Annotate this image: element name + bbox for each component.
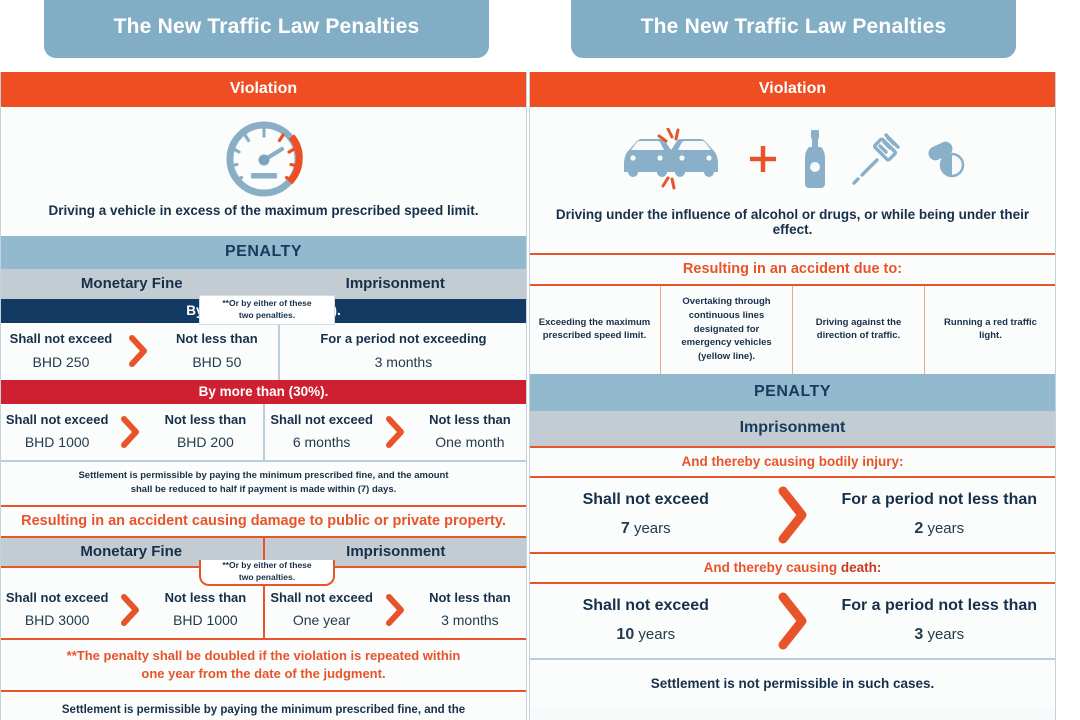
list-item: Running a red traffic light. xyxy=(924,286,1056,374)
chevron-right-icon xyxy=(763,478,823,552)
value-unit: years xyxy=(638,626,675,643)
cell-accident-fine-max: Shall not exceed BHD 3000 xyxy=(0,582,114,639)
left-title-wrap: The New Traffic Law Penalties xyxy=(0,0,527,72)
list-item: Overtaking through continuous lines desi… xyxy=(660,286,792,374)
cell-prison-max-over30: Shall not exceed 6 months xyxy=(265,404,379,461)
cell-death-max: Shall not exceed 10 years xyxy=(529,584,763,658)
double-penalty-note: **The penalty shall be doubled if the vi… xyxy=(0,638,527,692)
cell-death-min: For a period not less than 3 years xyxy=(823,584,1057,658)
value-unit: years xyxy=(927,626,964,643)
table-row: Shall not exceed BHD 1000 Not less than … xyxy=(0,404,527,461)
right-violation-header: Violation xyxy=(529,72,1056,107)
value-unit: years xyxy=(927,520,964,537)
cell-injury-min: For a period not less than 2 years xyxy=(823,478,1057,552)
chevron-right-icon xyxy=(114,582,148,639)
right-penalty-subhead: Imprisonment xyxy=(529,411,1056,446)
accident-banner-right: Resulting in an accident due to: xyxy=(529,253,1056,286)
value-number: 7 xyxy=(621,520,630,537)
left-violation-caption: Driving a vehicle in excess of the maxim… xyxy=(0,199,527,226)
table-row: Shall not exceed 10 years For a period n… xyxy=(529,584,1056,658)
list-item: Driving against the direction of traffic… xyxy=(792,286,924,374)
table-row: Shall not exceed 7 years For a period no… xyxy=(529,478,1056,552)
car-crash-icon xyxy=(618,128,724,195)
syringe-icon xyxy=(850,132,904,191)
right-page-title: The New Traffic Law Penalties xyxy=(641,5,947,39)
list-item: Exceeding the maximum prescribed speed l… xyxy=(529,286,660,374)
chevron-right-icon xyxy=(122,323,156,380)
settlement-note-1: Settlement is permissible by paying the … xyxy=(0,462,527,505)
right-violation-body: Driving under the influence of alcohol o… xyxy=(529,107,1056,253)
left-penalty-header: PENALTY xyxy=(0,236,527,269)
plus-icon xyxy=(746,142,780,181)
right-icon-row xyxy=(529,125,1056,197)
accident-reasons-list: Exceeding the maximum prescribed speed l… xyxy=(529,286,1056,374)
cell-prison-30: For a period not exceeding 3 months xyxy=(280,323,527,380)
cell-accident-prison-min: Not less than 3 months xyxy=(413,582,527,639)
left-icon-row xyxy=(0,121,527,199)
chevron-right-icon xyxy=(763,584,823,658)
speedometer-icon xyxy=(221,119,307,202)
cell-fine-min-30: Not less than BHD 50 xyxy=(156,323,278,380)
right-footer-note: Settlement is not permissible in such ca… xyxy=(529,660,1056,708)
accident-banner-left: Resulting in an accident causing damage … xyxy=(0,505,527,538)
accident-column-monetary-fine: Monetary Fine xyxy=(4,543,259,561)
right-violation-caption: Driving under the influence of alcohol o… xyxy=(529,197,1056,245)
or-either-penalties-note-1: **Or by either of these two penalties. xyxy=(199,295,335,325)
infographic-root: The New Traffic Law Penalties Violation xyxy=(0,0,1080,720)
cell-fine-max-over30: Shall not exceed BHD 1000 xyxy=(0,404,114,461)
left-violation-header: Violation xyxy=(0,72,527,107)
value-number: 10 xyxy=(616,626,634,643)
pills-icon xyxy=(926,138,968,185)
chevron-right-icon xyxy=(379,404,413,461)
chevron-right-icon xyxy=(114,404,148,461)
right-panel: The New Traffic Law Penalties Violation xyxy=(529,0,1056,720)
cell-fine-max-30: Shall not exceed BHD 250 xyxy=(0,323,122,380)
right-title-wrap: The New Traffic Law Penalties xyxy=(529,0,1056,72)
cell-accident-fine-min: Not less than BHD 1000 xyxy=(148,582,262,639)
band-by-more-than-30: By more than (30%). xyxy=(0,380,527,404)
left-page-title: The New Traffic Law Penalties xyxy=(114,5,420,39)
bottle-icon xyxy=(802,128,828,195)
or-either-penalties-note-2: **Or by either of these two penalties. xyxy=(199,560,335,586)
banner-bodily-injury: And thereby causing bodily injury: xyxy=(529,448,1056,476)
cell-injury-max: Shall not exceed 7 years xyxy=(529,478,763,552)
left-panel: The New Traffic Law Penalties Violation xyxy=(0,0,527,720)
column-header-imprisonment: Imprisonment xyxy=(268,275,524,293)
accident-column-imprisonment: Imprisonment xyxy=(269,543,524,561)
column-header-monetary-fine: Monetary Fine xyxy=(4,275,260,293)
value-number: 3 xyxy=(914,626,923,643)
cell-accident-prison-max: Shall not exceed One year xyxy=(265,582,379,639)
cell-fine-min-over30: Not less than BHD 200 xyxy=(148,404,262,461)
left-violation-body: Driving a vehicle in excess of the maxim… xyxy=(0,107,527,236)
chevron-right-icon xyxy=(379,582,413,639)
banner-death: And thereby causing death: xyxy=(529,554,1056,582)
value-unit: years xyxy=(634,520,671,537)
right-penalty-header: PENALTY xyxy=(529,374,1056,411)
cell-prison-min-over30: Not less than One month xyxy=(413,404,527,461)
right-title-pill: The New Traffic Law Penalties xyxy=(571,0,1016,58)
table-row: Shall not exceed BHD 250 Not less than B… xyxy=(0,323,527,380)
settlement-note-2: Settlement is permissible by paying the … xyxy=(0,692,527,720)
value-number: 2 xyxy=(914,520,923,537)
left-title-pill: The New Traffic Law Penalties xyxy=(44,0,489,58)
